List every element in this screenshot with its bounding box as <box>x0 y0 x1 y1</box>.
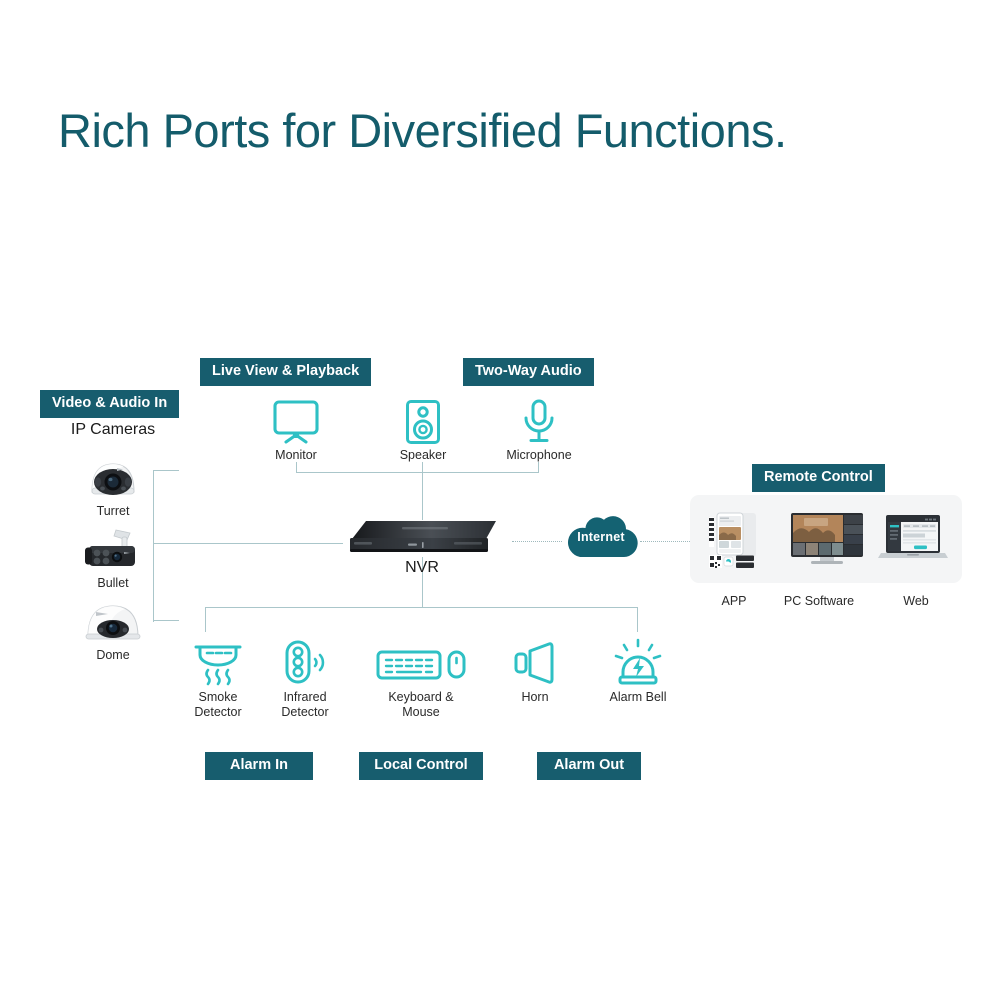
ip-cameras-heading: IP Cameras <box>43 421 183 439</box>
badge-alarm-in[interactable]: Alarm In <box>205 752 313 780</box>
peripheral-horn-label-line1: Horn <box>495 690 575 705</box>
camera-bracket-spine <box>153 470 154 622</box>
remote-web-thumbnail[interactable] <box>877 507 949 571</box>
camera-bullet[interactable]: Bullet <box>76 524 150 591</box>
peripheral-infrared-detector[interactable]: Infrared Detector <box>265 636 345 720</box>
peripheral-smoke-detector[interactable]: Smoke Detector <box>178 636 258 720</box>
peripheral-bracket-horizontal <box>205 607 638 608</box>
monitor-drop-line <box>296 462 297 473</box>
nvr-label: NVR <box>346 559 498 577</box>
camera-dome[interactable]: Dome <box>76 596 150 663</box>
horn-icon <box>495 636 575 690</box>
keyboard-mouse-icon <box>366 636 476 690</box>
camera-dome-label: Dome <box>76 648 150 663</box>
remote-pc-label: PC Software <box>779 594 859 609</box>
smartphone-app-icon <box>704 507 776 571</box>
turret-camera-icon <box>76 452 150 500</box>
badge-video-audio-in[interactable]: Video & Audio In <box>40 390 179 418</box>
alarm-bell-icon <box>598 636 678 690</box>
device-speaker-label: Speaker <box>383 448 463 463</box>
remote-web-label: Web <box>876 594 956 609</box>
badge-remote-control[interactable]: Remote Control <box>752 464 885 492</box>
smoke-detector-icon <box>178 636 258 690</box>
internet-to-remote-dotted-line <box>640 541 690 542</box>
desktop-monitor-icon <box>787 507 867 571</box>
peripheral-smoke-detector-label-line2: Detector <box>178 705 258 720</box>
dome-camera-icon <box>76 596 150 644</box>
camera-turret-label: Turret <box>76 504 150 519</box>
peripheral-alarm-bell[interactable]: Alarm Bell <box>598 636 678 705</box>
peripheral-horn[interactable]: Horn <box>495 636 575 705</box>
output-bracket-horizontal <box>296 472 539 473</box>
device-speaker[interactable]: Speaker <box>383 396 463 463</box>
device-microphone[interactable]: Microphone <box>499 396 579 463</box>
remote-control-panel <box>690 495 962 583</box>
diagram-canvas: Rich Ports for Diversified Functions. Vi… <box>0 0 1000 1000</box>
peripheral-bracket-right-drop <box>637 607 638 632</box>
bullet-camera-icon <box>76 524 150 572</box>
output-bracket-to-nvr-line <box>422 472 423 520</box>
page-title: Rich Ports for Diversified Functions. <box>58 103 958 158</box>
peripheral-keyboard-mouse-label-line1: Keyboard & <box>366 690 476 705</box>
badge-alarm-out[interactable]: Alarm Out <box>537 752 641 780</box>
internet-cloud[interactable]: Internet <box>560 513 642 561</box>
speaker-icon <box>383 396 463 448</box>
badge-local-control[interactable]: Local Control <box>359 752 483 780</box>
nvr-device[interactable]: NVR <box>346 519 498 557</box>
camera-bracket-bottom-arm <box>153 620 179 621</box>
peripheral-bracket-left-drop <box>205 607 206 632</box>
infrared-detector-icon <box>265 636 345 690</box>
peripheral-keyboard-mouse-label-line2: Mouse <box>366 705 476 720</box>
peripheral-infrared-detector-label-line2: Detector <box>265 705 345 720</box>
badge-live-view-playback[interactable]: Live View & Playback <box>200 358 371 386</box>
remote-app-label: APP <box>694 594 774 609</box>
remote-app-thumbnail[interactable] <box>704 507 776 571</box>
device-microphone-label: Microphone <box>499 448 579 463</box>
camera-bullet-label: Bullet <box>76 576 150 591</box>
cameras-to-nvr-line <box>153 543 343 544</box>
peripheral-keyboard-mouse[interactable]: Keyboard & Mouse <box>366 636 476 720</box>
device-monitor[interactable]: Monitor <box>256 396 336 463</box>
internet-label: Internet <box>560 530 642 544</box>
microphone-icon <box>499 396 579 448</box>
remote-pc-thumbnail[interactable] <box>787 507 867 571</box>
monitor-icon <box>256 396 336 448</box>
peripheral-smoke-detector-label-line1: Smoke <box>178 690 258 705</box>
device-monitor-label: Monitor <box>256 448 336 463</box>
peripheral-infrared-detector-label-line1: Infrared <box>265 690 345 705</box>
microphone-drop-line <box>538 462 539 473</box>
peripheral-alarm-bell-label-line1: Alarm Bell <box>598 690 678 705</box>
camera-turret[interactable]: Turret <box>76 452 150 519</box>
nvr-to-internet-dotted-line <box>512 541 562 542</box>
laptop-icon <box>877 507 949 571</box>
badge-two-way-audio[interactable]: Two-Way Audio <box>463 358 594 386</box>
camera-bracket-top-arm <box>153 470 179 471</box>
